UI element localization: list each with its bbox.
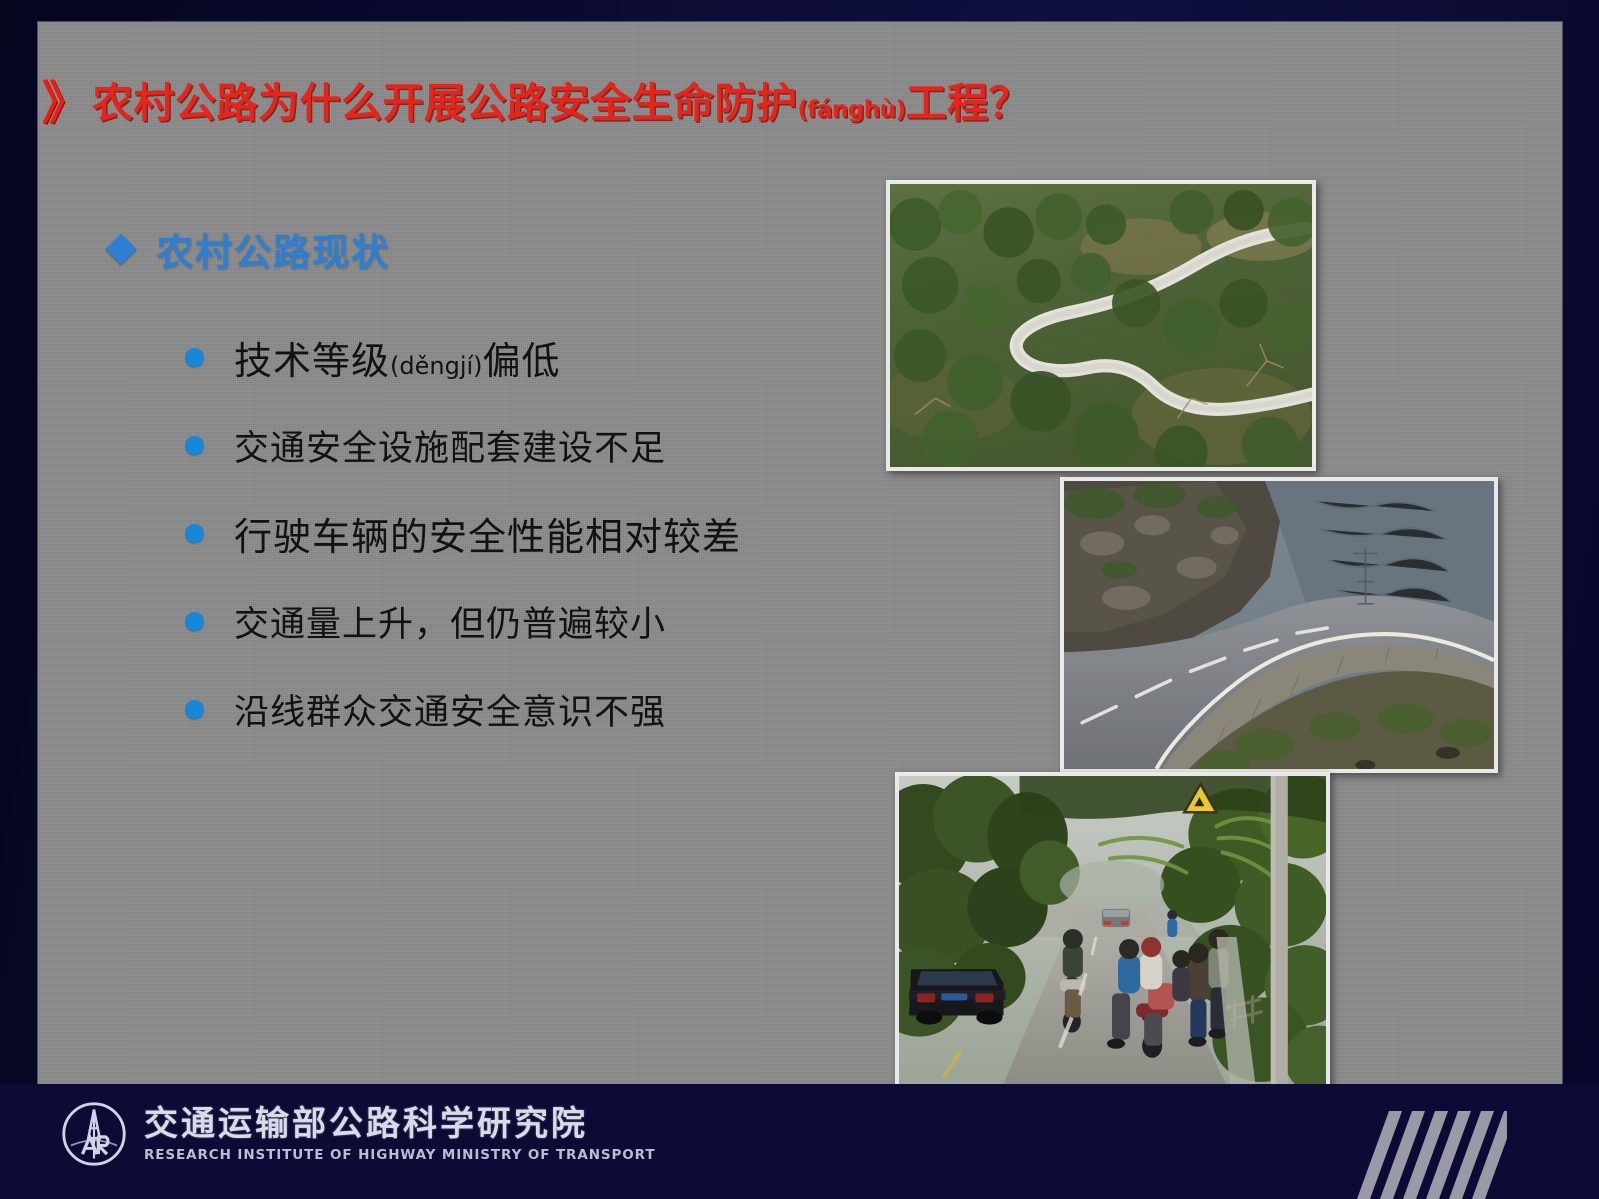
list-item: 行驶车辆的安全性能相对较差 [185,511,825,555]
bullet-text: 交通安全设施配套建设不足 [234,420,666,471]
title-pinyin: (fánghù) [798,97,906,123]
list-item: 技术等级(děngjí)偏低 [185,335,825,379]
photo-winding-rural-concrete-road [886,180,1316,471]
round-bullet-icon [185,436,204,455]
subheading: 农村公路现状 [110,222,390,276]
title-part-2: 工程？ [906,79,1031,127]
bullet-pinyin: (děngjí) [390,352,483,380]
diamond-bullet-icon [105,233,136,264]
round-bullet-icon [185,524,204,543]
bullet-text: 行驶车辆的安全性能相对较差 [234,506,741,561]
bullet-text-after: 偏低 [483,339,561,383]
bullet-text: 技术等级(děngjí)偏低 [234,330,561,385]
organization-name-cn: 交通运输部公路科学研究院 [144,1105,656,1143]
organization-name-en: RESEARCH INSTITUTE OF HIGHWAY MINISTRY O… [144,1147,656,1163]
photo-rural-road-traffic-mixed [895,772,1330,1098]
slide-title: 》 农村公路为什么开展公路安全生命防护(fánghù)工程？ [42,80,1030,126]
subheading-label: 农村公路现状 [156,222,390,276]
footer-text-block: 交通运输部公路科学研究院 RESEARCH INSTITUTE OF HIGHW… [144,1105,656,1162]
bullet-text: 沿线群众交通安全意识不强 [234,684,666,735]
slide-content: 》 农村公路为什么开展公路安全生命防护(fánghù)工程？ 农村公路现状 技术… [0,0,1599,1199]
footer-branding: 交通运输部公路科学研究院 RESEARCH INSTITUTE OF HIGHW… [58,1098,656,1170]
list-item: 交通安全设施配套建设不足 [185,423,825,467]
photo-mountain-cliff-asphalt-road [1060,477,1498,773]
list-item: 沿线群众交通安全意识不强 [185,687,825,731]
slide-canvas: 》 农村公路为什么开展公路安全生命防护(fánghù)工程？ 农村公路现状 技术… [0,0,1599,1199]
rioh-emblem-logo [58,1098,130,1170]
round-bullet-icon [185,348,204,367]
list-item: 交通量上升，但仍普遍较小 [185,599,825,643]
double-chevron-icon: 》 [42,80,84,126]
slide-footer: 交通运输部公路科学研究院 RESEARCH INSTITUTE OF HIGHW… [0,1084,1599,1199]
bullet-text-before: 技术等级 [234,339,390,383]
bullet-text: 交通量上升，但仍普遍较小 [234,596,666,647]
round-bullet-icon [185,700,204,719]
title-text-block: 农村公路为什么开展公路安全生命防护(fánghù)工程？ [92,83,1030,124]
title-part-1: 农村公路为什么开展公路安全生命防护 [92,79,798,127]
round-bullet-icon [185,612,204,631]
diagonal-stripes-decoration [1357,1111,1507,1199]
bullet-list: 技术等级(děngjí)偏低 交通安全设施配套建设不足 行驶车辆的安全性能相对较… [185,335,825,775]
